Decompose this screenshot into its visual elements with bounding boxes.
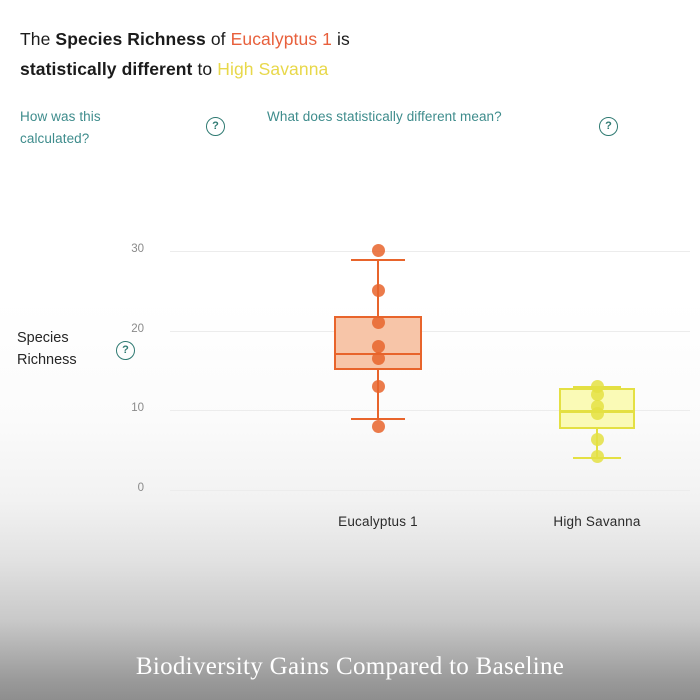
headline-part4: to	[193, 59, 218, 79]
x-axis-tick-label: Eucalyptus 1	[278, 514, 478, 529]
caption-bar: Biodiversity Gains Compared to Baseline	[0, 634, 700, 700]
caption-text: Biodiversity Gains Compared to Baseline	[136, 653, 564, 681]
help-link-how-calculated[interactable]: How was this calculated? ?	[20, 106, 250, 150]
data-point[interactable]	[591, 388, 604, 401]
help-links-row: How was this calculated? ? What does sta…	[0, 106, 700, 156]
headline-part3: is	[332, 29, 350, 49]
page-title: The Species Richness of Eucalyptus 1 iss…	[20, 24, 540, 84]
y-axis-label: Species Richness	[17, 327, 117, 371]
y-axis-tick-label: 20	[114, 323, 144, 335]
boxplot-chart: 0102030Eucalyptus 1High Savanna	[150, 236, 690, 496]
headline-part1: The	[20, 29, 55, 49]
question-mark-icon[interactable]: ?	[599, 117, 618, 136]
data-point[interactable]	[591, 433, 604, 446]
headline-part2: of	[206, 29, 231, 49]
y-axis-tick-label: 30	[114, 243, 144, 255]
headline-metric: Species Richness	[55, 29, 205, 49]
y-axis-tick-label: 10	[114, 402, 144, 414]
headline-verdict: statistically different	[20, 59, 193, 79]
headline-comparator: High Savanna	[217, 59, 328, 79]
data-point[interactable]	[591, 450, 604, 463]
help-link-statistically-different[interactable]: What does statistically different mean? …	[267, 106, 587, 128]
question-mark-icon[interactable]: ?	[116, 341, 135, 360]
boxplot-series[interactable]	[150, 236, 690, 496]
infographic-card: The Species Richness of Eucalyptus 1 iss…	[0, 0, 700, 700]
headline-subject: Eucalyptus 1	[231, 29, 332, 49]
y-axis-tick-label: 0	[114, 482, 144, 494]
x-axis-tick-label: High Savanna	[497, 514, 697, 529]
help-link-how-calculated-label: How was this calculated?	[20, 106, 140, 150]
data-point[interactable]	[591, 407, 604, 420]
question-mark-icon[interactable]: ?	[206, 117, 225, 136]
help-link-statistically-different-label: What does statistically different mean?	[267, 106, 517, 128]
